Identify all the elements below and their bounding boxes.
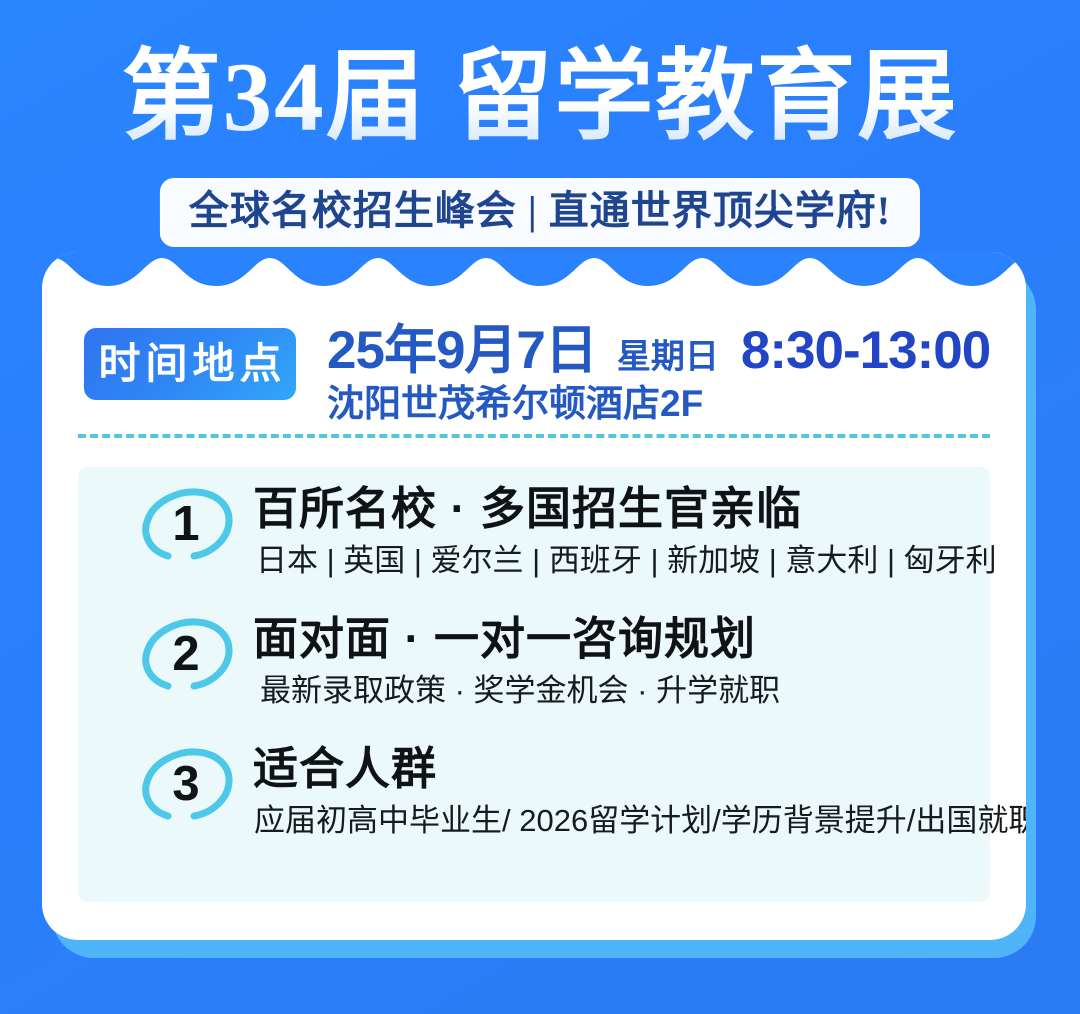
list-item-heading: 适合人群	[253, 741, 437, 797]
time-place-primary-line: 25年9月7日 星期日 8:30-13:00	[327, 322, 990, 386]
time-place-badge-label: 时间地点	[93, 342, 286, 386]
dashed-divider	[78, 434, 990, 438]
poster-root: 第34届 留学教育展 全球名校招生峰会 | 直通世界顶尖学府! 时间地点 25年…	[0, 0, 1080, 1014]
event-time-range: 8:30-13:00	[741, 322, 990, 380]
event-date: 25年9月7日	[327, 322, 597, 380]
list-item-heading: 百所名校 · 多国招生官亲临	[253, 481, 802, 537]
list-item-subtext: 应届初高中毕业生/ 2026留学计划/学历背景提升/出国就职	[254, 801, 1026, 841]
list-item-number: 3	[138, 747, 234, 821]
subtitle-text: 全球名校招生峰会 | 直通世界顶尖学府!	[189, 188, 891, 233]
list-item-subtext: 最新录取政策 · 奖学金机会 · 升学就职	[260, 671, 780, 711]
event-venue: 沈阳世茂希尔顿酒店2F	[327, 382, 703, 426]
scalloped-edge-decoration	[42, 252, 1026, 286]
highlights-panel: 1 百所名校 · 多国招生官亲临 日本 | 英国 | 爱尔兰 | 西班牙 | 新…	[78, 467, 990, 902]
poster-header: 第34届 留学教育展 全球名校招生峰会 | 直通世界顶尖学府!	[0, 0, 1080, 250]
list-item-heading: 面对面 · 一对一咨询规划	[253, 611, 756, 667]
list-item-number: 1	[138, 487, 234, 561]
time-place-block: 时间地点 25年9月7日 星期日 8:30-13:00 沈阳世茂希尔顿酒店2F	[84, 322, 984, 427]
page-title: 第34届 留学教育展	[0, 44, 1080, 152]
list-item-number: 2	[138, 617, 234, 691]
time-place-badge: 时间地点	[84, 328, 296, 400]
event-weekday: 星期日	[617, 328, 719, 386]
subtitle-box: 全球名校招生峰会 | 直通世界顶尖学府!	[160, 178, 920, 247]
info-card: 时间地点 25年9月7日 星期日 8:30-13:00 沈阳世茂希尔顿酒店2F …	[42, 252, 1026, 940]
list-item-subtext: 日本 | 英国 | 爱尔兰 | 西班牙 | 新加坡 | 意大利 | 匈牙利	[256, 541, 997, 581]
